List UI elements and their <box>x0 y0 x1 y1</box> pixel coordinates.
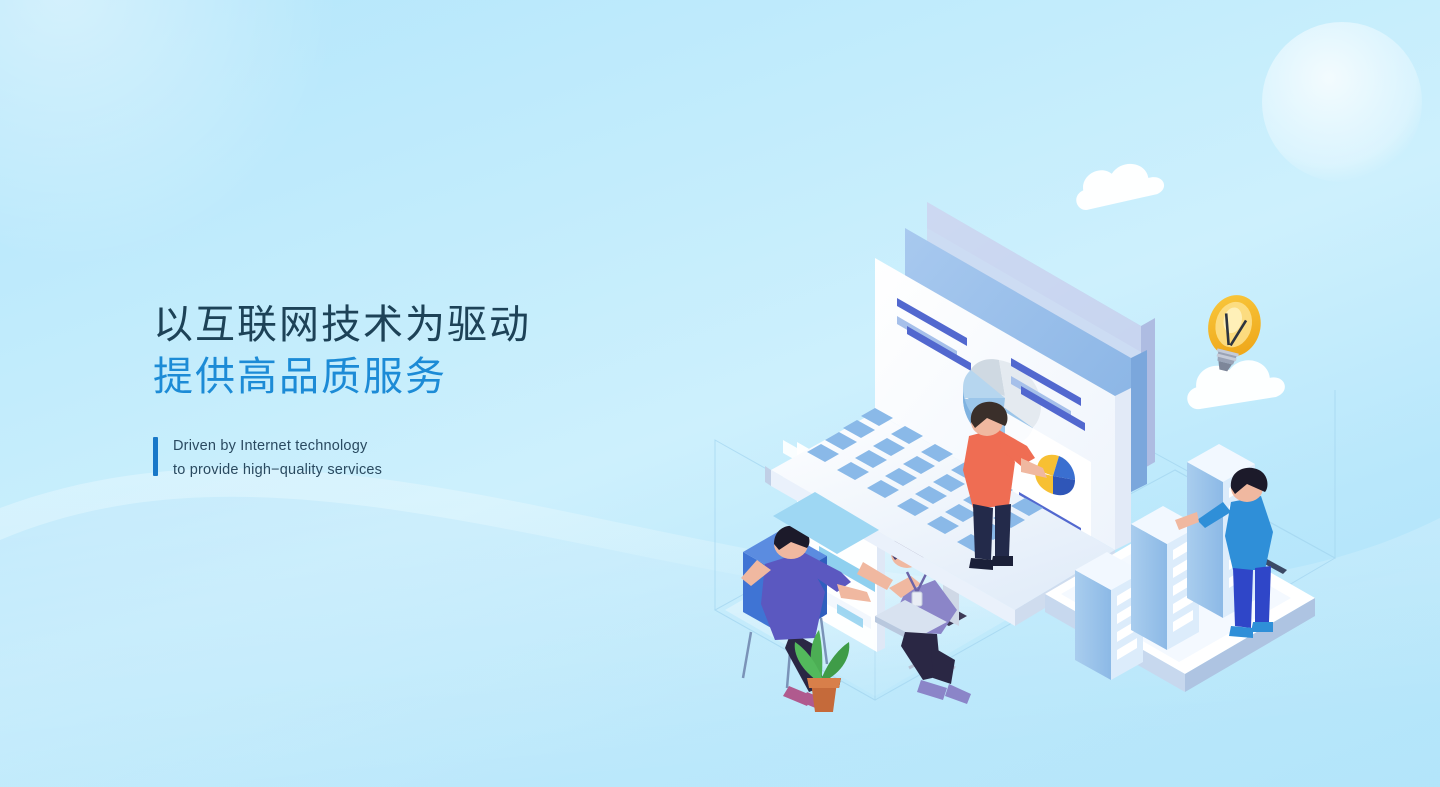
hero-banner: 以互联网技术为驱动 提供高品质服务 Driven by Internet tec… <box>0 0 1440 787</box>
accent-bar <box>153 437 158 476</box>
subtitle-lines: Driven by Internet technology to provide… <box>173 434 382 482</box>
subtitle-line-2: to provide high−quality services <box>173 458 382 482</box>
hero-illustration <box>575 140 1395 740</box>
subtitle-line-1: Driven by Internet technology <box>173 434 382 458</box>
background-blob-top-left <box>0 0 340 270</box>
cloud-icon-top <box>1070 154 1166 216</box>
